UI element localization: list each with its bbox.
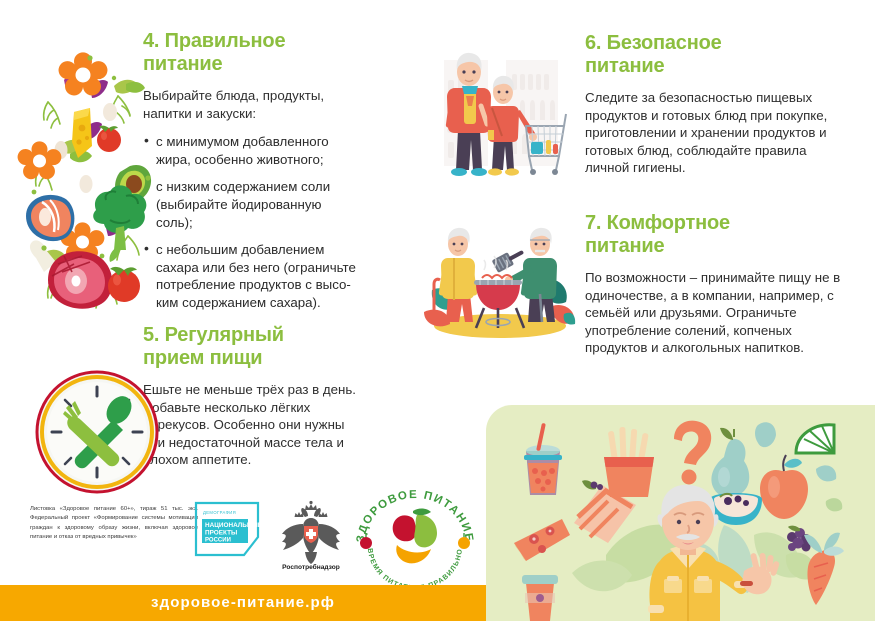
np-logo-line3: РОССИИ [205,538,231,544]
section-4-proper-nutrition: 4. Правильное питание Выбирайте блюда, п… [143,30,358,322]
section-6-title-line1: Безопасное [607,32,722,54]
list-item: с минимумом добавленного жира, особенно … [143,133,358,168]
section-7-number: 7. [585,212,601,234]
national-projects-logo: ДЕМОГРАФИЯ НАЦИОНАЛЬНЫЕ ПРОЕКТЫ РОССИИ [196,503,262,555]
section-6-title-line2: питание [585,55,664,77]
healthy-food-collage-illustration [18,50,158,315]
section-7-body: По возможности – принимайте пищу не в од… [585,269,843,357]
section-4-title: 4. Правильное питание [143,30,358,76]
section-6-body: Следите за безопасностью пищевых продукт… [585,89,841,177]
section-5-regular-meals: 5. Регулярный прием пищи Ешьте не меньше… [143,324,361,469]
section-4-title-line1: Правильное [165,30,286,52]
np-logo-line2: ПРОЕКТЫ [205,530,237,537]
list-item: с небольшим добавлением сахара или без н… [143,241,358,311]
section-7-comfortable-nutrition: 7. Комфортное питание По возможности – п… [585,212,843,357]
section-6-safe-nutrition: 6. Безопасное питание Следите за безопас… [585,32,841,177]
rpn-caption: Роспотребнадзор [282,563,340,571]
clock-fork-spoon-illustration [33,368,161,496]
section-6-title: 6. Безопасное питание [585,32,841,78]
section-5-number: 5. [143,324,159,346]
np-logo-top: ДЕМОГРАФИЯ [203,510,236,515]
section-5-body: Ешьте не меньше трёх раз в день. Добавьт… [143,381,361,469]
website-banner: здоровое-питание.рф [0,585,486,621]
website-url[interactable]: здоровое-питание.рф [0,594,486,611]
section-7-title: 7. Комфортное питание [585,212,843,258]
section-4-intro: Выбирайте блюда, продукты, напитки и зак… [143,87,358,122]
section-5-title-line1: Регулярный [165,324,284,346]
section-4-number: 4. [143,30,159,52]
elderly-couple-barbecue-illustration [424,218,576,340]
section-5-title: 5. Регулярный прием пищи [143,324,361,370]
elderly-man-food-choice-panel [486,405,875,621]
rospotrebnadzor-logo: Роспотребнадзор [278,500,344,570]
section-7-title-line2: питание [585,235,664,257]
section-4-bullet-list: с минимумом добавленного жира, особенно … [143,133,358,311]
section-6-number: 6. [585,32,601,54]
healthy-nutrition-logo: ЗДОРОВОЕ ПИТАНИЕ ВРЕМЯ ПИТАТЬСЯ ПРАВИЛЬН… [352,495,478,581]
list-item: с низким содержанием соли (выбирайте йод… [143,178,358,231]
legal-note: Листовка «Здоровое питание 60+», тираж 5… [30,505,198,543]
food-choice-illustration [486,405,875,621]
elderly-couple-shopping-illustration [428,44,568,184]
np-logo-line1: НАЦИОНАЛЬНЫЕ [205,522,263,529]
section-5-title-line2: прием пищи [143,347,262,369]
section-7-title-line1: Комфортное [607,212,730,234]
